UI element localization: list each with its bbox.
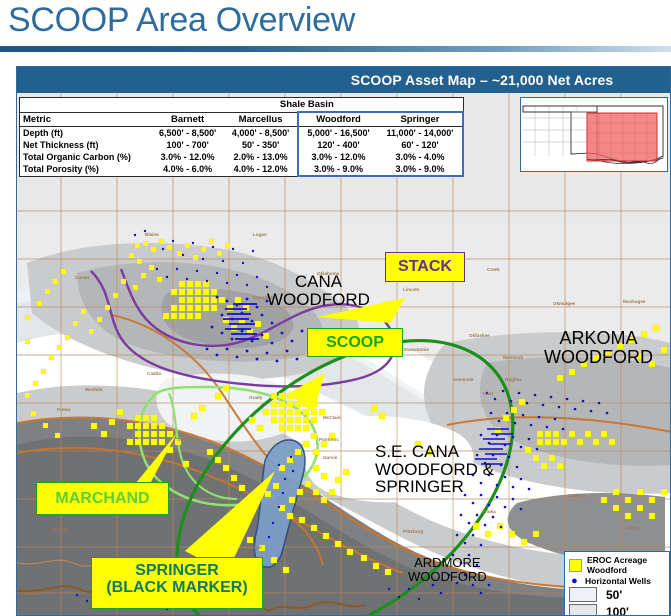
row-label-depth: Depth (ft) [20, 127, 152, 140]
cell-porosity-woodford: 3.0% - 9.0% [298, 163, 378, 176]
page-title: SCOOP Area Overview [8, 0, 528, 42]
secana-line1: S.E. CANA [375, 443, 494, 461]
row-label-toc: Total Organic Carbon (%) [20, 151, 152, 163]
svg-text:Caddo: Caddo [147, 371, 161, 376]
svg-text:Stephens: Stephens [177, 437, 198, 442]
arkoma-line2: WOODFORD [544, 348, 653, 367]
basin-label-cana: CANA WOODFORD [267, 273, 370, 308]
cell-toc-springer: 3.0% - 4.0% [378, 151, 463, 163]
svg-text:Creek: Creek [487, 267, 500, 272]
cell-thickness-woodford: 120' - 400' [298, 139, 378, 151]
map-legend: EROC Acreage Woodford ● Horizontal Wells… [564, 551, 670, 616]
svg-text:Pittsburg: Pittsburg [403, 529, 423, 534]
svg-text:Atoka: Atoka [483, 509, 496, 514]
ardmore-line1: ARDMORE [408, 556, 487, 570]
svg-text:Custer: Custer [75, 275, 90, 280]
cell-porosity-marcellus: 4.0% - 12.0% [224, 163, 298, 176]
horizontal-well-dot-icon: ● [569, 576, 580, 586]
column-header-springer: Springer [378, 112, 463, 127]
secana-line2: WOODFORD & [375, 461, 494, 479]
callout-scoop[interactable]: SCOOP [307, 328, 403, 357]
ardmore-line2: WOODFORD [408, 570, 487, 584]
cell-porosity-springer: 3.0% - 9.0% [378, 163, 463, 176]
row-label-net-thickness: Net Thickness (ft) [20, 139, 152, 151]
inset-locator-map [520, 97, 668, 172]
cell-depth-woodford: 5,000' - 16,500' [298, 127, 378, 140]
legend-label-wells: Horizontal Wells [585, 576, 651, 586]
callout-marchand[interactable]: MARCHAND [36, 482, 169, 515]
table-row: Total Organic Carbon (%) 3.0% - 12.0% 2.… [20, 151, 464, 163]
springer-line2: (BLACK MARKER) [92, 580, 262, 597]
cell-toc-woodford: 3.0% - 12.0% [298, 151, 378, 163]
legend-label-acreage: EROC Acreage Woodford [587, 556, 647, 575]
legend-label-band-50: 50' [606, 588, 622, 602]
panel-header-bar: SCOOP Asset Map – ~21,000 Net Acres [17, 67, 671, 93]
legend-label-band-100: 100' [606, 605, 629, 616]
legend-row-band-50: 50' [569, 587, 666, 602]
group-header-shale-basin: Shale Basin [151, 98, 463, 113]
cell-thickness-marcellus: 50' - 350' [224, 139, 298, 151]
svg-text:Seminole: Seminole [453, 377, 474, 382]
acreage-line1: EROC Acreage [587, 555, 647, 565]
cana-line1: CANA [267, 273, 370, 291]
svg-text:Coal: Coal [483, 391, 493, 396]
cell-toc-marcellus: 2.0% - 13.0% [224, 151, 298, 163]
thickness-swatch-100-icon [569, 604, 597, 616]
cell-thickness-barnett: 100' - 700' [151, 139, 224, 151]
eroc-acreage-swatch-icon [569, 559, 582, 572]
svg-text:Carter: Carter [303, 501, 317, 506]
svg-text:Washita: Washita [85, 387, 103, 392]
svg-text:Logan: Logan [253, 232, 267, 237]
table-group-header-row: Shale Basin [20, 98, 464, 113]
acreage-line2: Woodford [587, 565, 627, 575]
svg-text:Love: Love [627, 525, 638, 530]
svg-text:Tillman: Tillman [51, 527, 67, 532]
column-header-metric: Metric [20, 112, 152, 127]
scoop-asset-map-panel: SCOOP Asset Map – ~21,000 Net Acres [16, 66, 671, 616]
arkoma-line1: ARKOMA [544, 329, 653, 348]
spacer-cell [20, 98, 152, 113]
svg-text:Grady: Grady [249, 395, 263, 400]
shale-basin-table: Shale Basin Metric Barnett Marcellus Woo… [19, 97, 464, 177]
svg-text:Latimer: Latimer [569, 493, 586, 498]
cell-toc-barnett: 3.0% - 12.0% [151, 151, 224, 163]
svg-text:Marshall: Marshall [243, 545, 262, 550]
cell-porosity-barnett: 4.0% - 6.0% [151, 163, 224, 176]
basin-label-arkoma: ARKOMA WOODFORD [544, 329, 653, 366]
cell-depth-springer: 11,000' - 14,000' [378, 127, 463, 140]
legend-row-band-100: 100' [569, 604, 666, 616]
title-divider [0, 46, 671, 52]
svg-text:Pontotoc: Pontotoc [319, 437, 339, 442]
svg-text:Pottawatomie: Pottawatomie [399, 347, 429, 352]
cell-thickness-springer: 60' - 120' [378, 139, 463, 151]
svg-text:Wichita: Wichita [25, 591, 42, 596]
cell-depth-marcellus: 4,000' - 8,500' [224, 127, 298, 140]
svg-text:Garvin: Garvin [323, 455, 338, 460]
table-row: Depth (ft) 6,500' - 8,500' 4,000' - 8,50… [20, 127, 464, 140]
table-row: Total Porosity (%) 4.0% - 6.0% 4.0% - 12… [20, 163, 464, 176]
legend-row-acreage: EROC Acreage Woodford [569, 556, 666, 575]
basin-label-se-cana: S.E. CANA WOODFORD & SPRINGER [375, 443, 494, 496]
svg-text:Blaine: Blaine [145, 232, 159, 237]
callout-springer[interactable]: SPRINGER (BLACK MARKER) [91, 557, 263, 609]
column-header-barnett: Barnett [151, 112, 224, 127]
row-label-porosity: Total Porosity (%) [20, 163, 152, 176]
column-header-woodford: Woodford [298, 112, 378, 127]
cell-depth-barnett: 6,500' - 8,500' [151, 127, 224, 140]
springer-line1: SPRINGER [92, 563, 262, 580]
inset-graphic [521, 98, 667, 171]
table-row: Net Thickness (ft) 100' - 700' 50' - 350… [20, 139, 464, 151]
legend-row-wells: ● Horizontal Wells [569, 576, 666, 586]
callout-stack[interactable]: STACK [385, 252, 465, 282]
svg-text:McIntosh: McIntosh [503, 355, 523, 360]
svg-text:Okmulgee: Okmulgee [553, 301, 576, 306]
svg-text:Okfuskee: Okfuskee [469, 333, 490, 338]
cana-line2: WOODFORD [267, 291, 370, 309]
column-header-marcellus: Marcellus [224, 112, 298, 127]
svg-text:McClain: McClain [323, 415, 341, 420]
svg-text:Murray: Murray [213, 477, 229, 482]
svg-text:Muskogee: Muskogee [623, 299, 646, 304]
table-column-header-row: Metric Barnett Marcellus Woodford Spring… [20, 112, 464, 127]
panel-header-title: SCOOP Asset Map – ~21,000 Net Acres [292, 67, 671, 93]
thickness-swatch-50-icon [569, 587, 597, 602]
secana-line3: SPRINGER [375, 478, 494, 496]
svg-text:Lincoln: Lincoln [403, 287, 420, 292]
basin-label-ardmore: ARDMORE WOODFORD [408, 556, 487, 583]
svg-text:Hughes: Hughes [505, 377, 522, 382]
svg-text:Kiowa: Kiowa [57, 407, 71, 412]
